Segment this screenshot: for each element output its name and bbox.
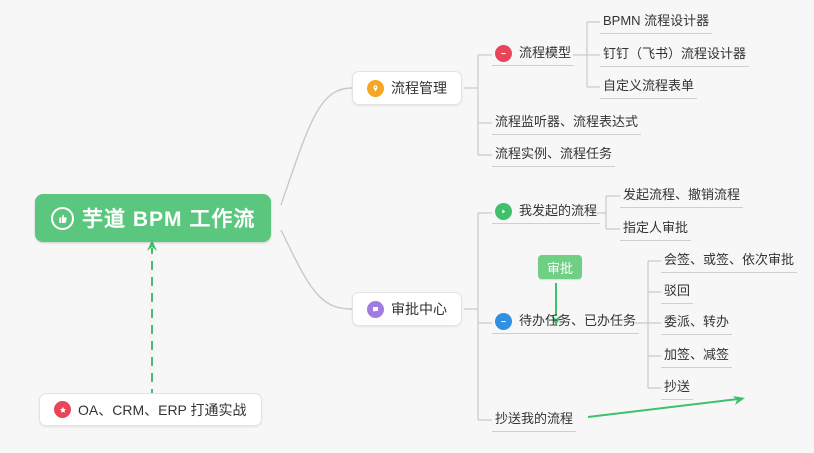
node-label: 我发起的流程 — [519, 202, 597, 220]
node-assign-approver[interactable]: 指定人审批 — [620, 219, 691, 241]
node-label: 指定人审批 — [623, 220, 688, 235]
node-add-subtract-sign[interactable]: 加签、减签 — [661, 346, 732, 368]
note-integration[interactable]: OA、CRM、ERP 打通实战 — [39, 393, 262, 426]
node-cc[interactable]: 抄送 — [661, 378, 693, 400]
note-label: OA、CRM、ERP 打通实战 — [78, 400, 247, 420]
branch-process-management[interactable]: 流程管理 — [352, 71, 462, 105]
node-label: 抄送 — [664, 379, 690, 394]
node-process-model[interactable]: 流程模型 — [492, 44, 574, 66]
mindmap-canvas: 芋道 BPM 工作流 流程管理 流程模型 BPMN 流程设计器 钉钉（飞书）流程… — [0, 0, 814, 453]
branch-approval-center[interactable]: 审批中心 — [352, 292, 462, 326]
node-instance-task[interactable]: 流程实例、流程任务 — [492, 145, 615, 167]
star-circle-icon — [54, 401, 71, 418]
play-circle-icon — [495, 203, 512, 220]
node-label: BPMN 流程设计器 — [603, 13, 709, 28]
node-start-cancel[interactable]: 发起流程、撤销流程 — [620, 186, 743, 208]
node-label: 驳回 — [664, 283, 690, 298]
minus-circle-icon — [495, 45, 512, 62]
message-circle-icon — [367, 301, 384, 318]
node-cc-to-me[interactable]: 抄送我的流程 — [492, 410, 576, 432]
node-label: 待办任务、已办任务 — [519, 312, 636, 330]
node-label: 流程监听器、流程表达式 — [495, 114, 638, 129]
node-my-started-process[interactable]: 我发起的流程 — [492, 202, 600, 224]
node-delegate-transfer[interactable]: 委派、转办 — [661, 313, 732, 335]
node-label: 流程实例、流程任务 — [495, 146, 612, 161]
node-reject[interactable]: 驳回 — [661, 282, 693, 304]
node-bpmn-designer[interactable]: BPMN 流程设计器 — [600, 12, 712, 34]
root-node[interactable]: 芋道 BPM 工作流 — [35, 194, 271, 242]
node-label: 委派、转办 — [664, 314, 729, 329]
node-listener-expression[interactable]: 流程监听器、流程表达式 — [492, 113, 641, 135]
thumbs-up-icon — [51, 207, 74, 230]
node-counter-or-sequential[interactable]: 会签、或签、依次审批 — [661, 251, 797, 273]
node-label: 抄送我的流程 — [495, 411, 573, 426]
node-label: 发起流程、撤销流程 — [623, 187, 740, 202]
node-custom-process-form[interactable]: 自定义流程表单 — [600, 77, 697, 99]
node-label: 加签、减签 — [664, 347, 729, 362]
tag-approve[interactable]: 审批 — [538, 255, 582, 279]
node-dingtalk-feishu-designer[interactable]: 钉钉（飞书）流程设计器 — [600, 45, 749, 67]
branch-label: 审批中心 — [391, 299, 447, 319]
node-label: 钉钉（飞书）流程设计器 — [603, 46, 746, 61]
branch-label: 流程管理 — [391, 78, 447, 98]
tag-label: 审批 — [547, 258, 573, 277]
location-pin-icon — [367, 80, 384, 97]
node-label: 自定义流程表单 — [603, 78, 694, 93]
node-label: 会签、或签、依次审批 — [664, 252, 794, 267]
node-todo-done-task[interactable]: 待办任务、已办任务 — [492, 312, 639, 334]
minus-circle-blue-icon — [495, 313, 512, 330]
root-label: 芋道 BPM 工作流 — [82, 203, 255, 233]
node-label: 流程模型 — [519, 44, 571, 62]
